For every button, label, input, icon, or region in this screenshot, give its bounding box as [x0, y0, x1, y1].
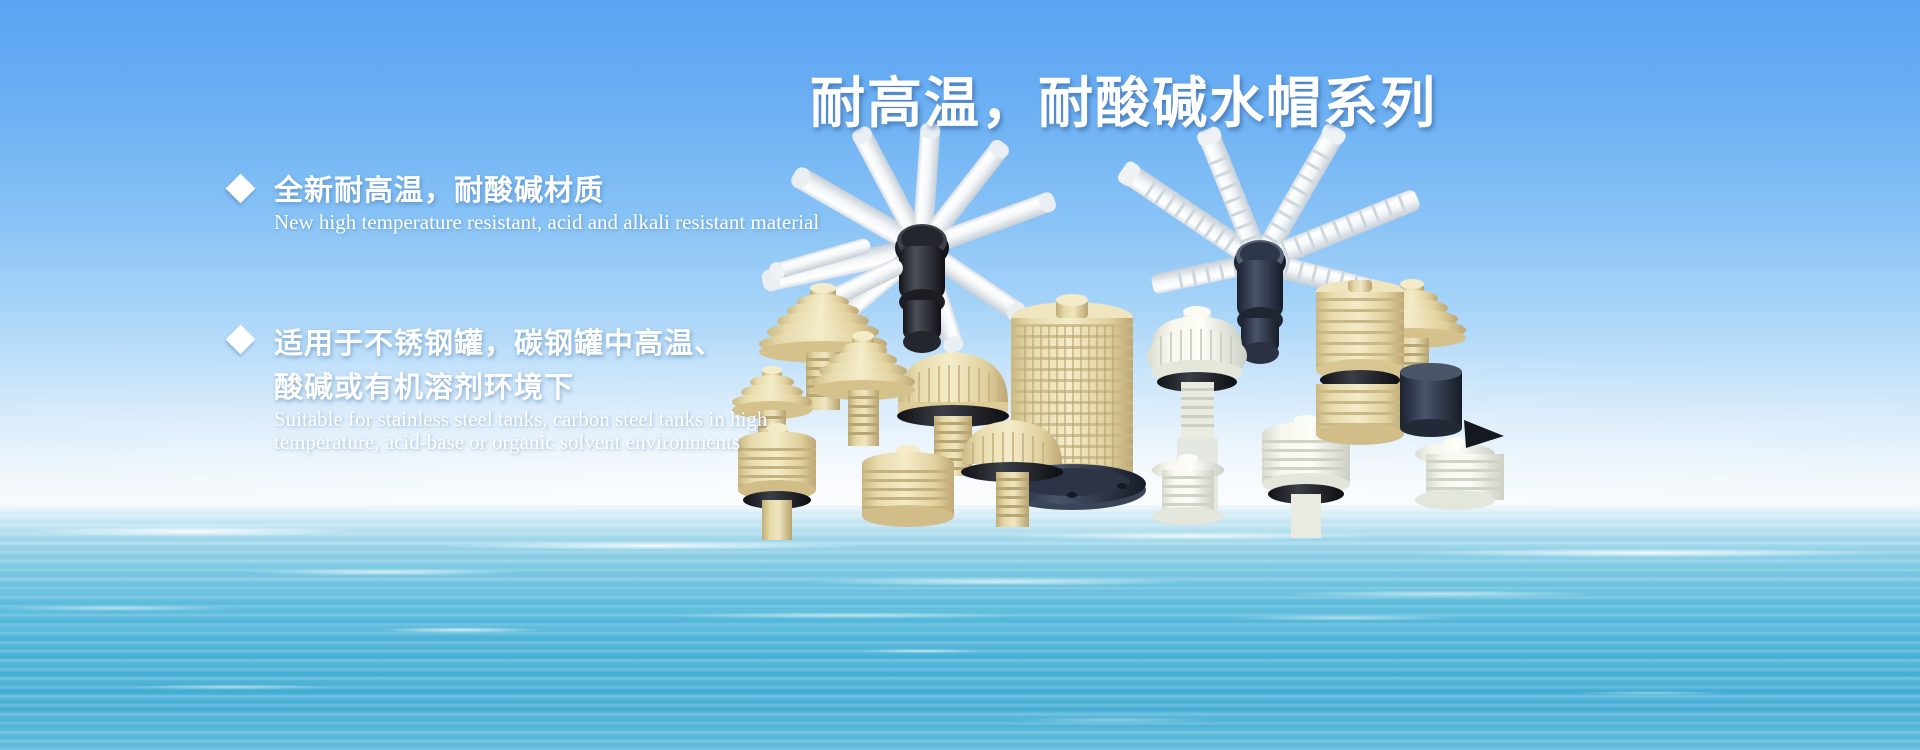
diamond-bullet-icon	[226, 174, 256, 204]
short-stack-cap-white-b	[1152, 454, 1224, 525]
bullet-2-en-line2: temperature, acid-base or organic solven…	[274, 430, 950, 455]
bullet-2-cn-line1: 适用于不锈钢罐，碳钢罐中高温、	[274, 321, 950, 365]
dome-cap-nozzle-small	[961, 420, 1063, 527]
bullet-2-cn-line2: 酸碱或有机溶剂环境下	[274, 365, 950, 409]
feature-bullet-2: 适用于不锈钢罐，碳钢罐中高温、 酸碱或有机溶剂环境下 Suitable for …	[230, 321, 950, 455]
bullet-1-cn-text: 全新耐高温，耐酸碱材质	[274, 170, 950, 210]
disc-stack-cap-far-right	[1415, 437, 1504, 510]
bullet-2-en-line1: Suitable for stainless steel tanks, carb…	[274, 407, 950, 432]
stacked-cylinder-right	[1316, 280, 1404, 445]
bullet-1-en-text: New high temperature resistant, acid and…	[274, 210, 950, 235]
water-sparkle-highlights	[0, 600, 1920, 750]
disc-stack-cap-center	[862, 445, 954, 527]
product-banner: 耐高温，耐酸碱水帽系列 全新耐高温，耐酸碱材质 New high tempera…	[0, 0, 1920, 750]
navy-cylinder-far-right	[1400, 363, 1504, 448]
feature-bullet-list: 全新耐高温，耐酸碱材质 New high temperature resista…	[230, 170, 950, 455]
feature-bullet-1: 全新耐高温，耐酸碱材质 New high temperature resista…	[230, 170, 950, 235]
diamond-bullet-icon	[226, 325, 256, 355]
page-title: 耐高温，耐酸碱水帽系列	[810, 58, 1510, 138]
